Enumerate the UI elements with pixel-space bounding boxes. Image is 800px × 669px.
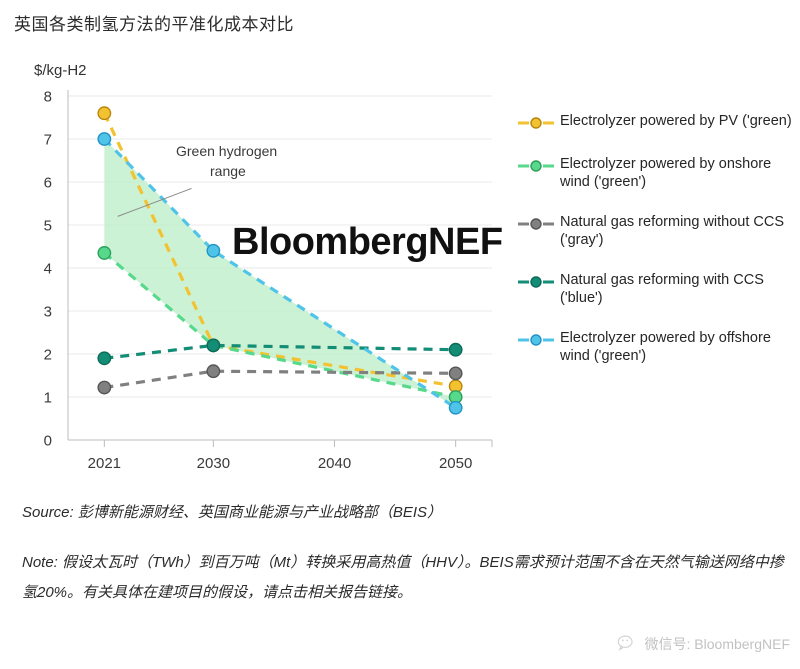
wechat-id-text: 微信号: BloombergNEF: [645, 634, 790, 654]
y-tick-label: 7: [44, 132, 52, 149]
y-tick-label: 6: [44, 175, 52, 192]
x-tick-label: 2021: [88, 455, 121, 472]
legend-swatch-offshore: [518, 330, 554, 350]
data-point-offshore: [449, 402, 461, 414]
y-tick-label: 0: [44, 433, 52, 450]
data-point-ccs_blue: [449, 344, 461, 356]
legend-label-gray: Natural gas reforming without CCS ('gray…: [560, 213, 796, 249]
chart-legend: Electrolyzer powered by PV ('green)Elect…: [518, 112, 796, 387]
legend-swatch-ccs_blue: [518, 272, 554, 292]
y-tick-label: 3: [44, 304, 52, 321]
legend-item-onshore[interactable]: Electrolyzer powered by onshore wind ('g…: [518, 155, 796, 191]
legend-label-onshore: Electrolyzer powered by onshore wind ('g…: [560, 155, 796, 191]
data-point-gray: [98, 381, 110, 393]
annotation-line-1: Green hydrogen: [176, 143, 277, 159]
x-axis-ticks: 2021203020402050: [88, 455, 473, 472]
y-tick-label: 2: [44, 347, 52, 364]
data-point-gray: [207, 365, 219, 377]
y-tick-label: 1: [44, 390, 52, 407]
wechat-footer: 微信号: BloombergNEF: [616, 633, 790, 655]
legend-label-pv: Electrolyzer powered by PV ('green): [560, 112, 792, 130]
legend-swatch-gray: [518, 214, 554, 234]
legend-item-ccs_blue[interactable]: Natural gas reforming with CCS ('blue'): [518, 271, 796, 307]
x-tick-label: 2030: [197, 455, 230, 472]
y-tick-label: 8: [44, 89, 52, 106]
legend-swatch-pv: [518, 113, 554, 133]
wechat-icon: [616, 633, 638, 655]
chart-plot-area: $/kg-H2 012345678 2021203020402050 Green…: [0, 60, 520, 480]
x-tick-label: 2040: [318, 455, 351, 472]
methodology-note: Note: 假设太瓦时（TWh）到百万吨（Mt）转换采用高热值（HHV）。BEI…: [22, 548, 784, 608]
legend-label-ccs_blue: Natural gas reforming with CCS ('blue'): [560, 271, 796, 307]
chart-svg: 012345678 2021203020402050 Green hydroge…: [0, 60, 520, 480]
legend-item-offshore[interactable]: Electrolyzer powered by offshore wind ('…: [518, 329, 796, 365]
y-axis-ticks: 012345678: [44, 89, 52, 450]
data-point-onshore: [98, 247, 110, 259]
data-point-offshore: [207, 245, 219, 257]
legend-item-pv[interactable]: Electrolyzer powered by PV ('green): [518, 112, 796, 133]
y-tick-label: 4: [44, 261, 52, 278]
x-tick-label: 2050: [439, 455, 472, 472]
annotation-line-2: range: [210, 163, 246, 179]
data-point-ccs_blue: [207, 339, 219, 351]
data-point-ccs_blue: [98, 352, 110, 364]
data-point-pv: [98, 107, 110, 119]
legend-item-gray[interactable]: Natural gas reforming without CCS ('gray…: [518, 213, 796, 249]
y-tick-label: 5: [44, 218, 52, 235]
data-point-offshore: [98, 133, 110, 145]
data-point-gray: [449, 367, 461, 379]
green-hydrogen-band: [104, 139, 455, 408]
legend-label-offshore: Electrolyzer powered by offshore wind ('…: [560, 329, 796, 365]
source-note: Source: 彭博新能源财经、英国商业能源与产业战略部（BEIS）: [22, 498, 442, 528]
legend-swatch-onshore: [518, 156, 554, 176]
page-title: 英国各类制氢方法的平准化成本对比: [14, 10, 294, 35]
